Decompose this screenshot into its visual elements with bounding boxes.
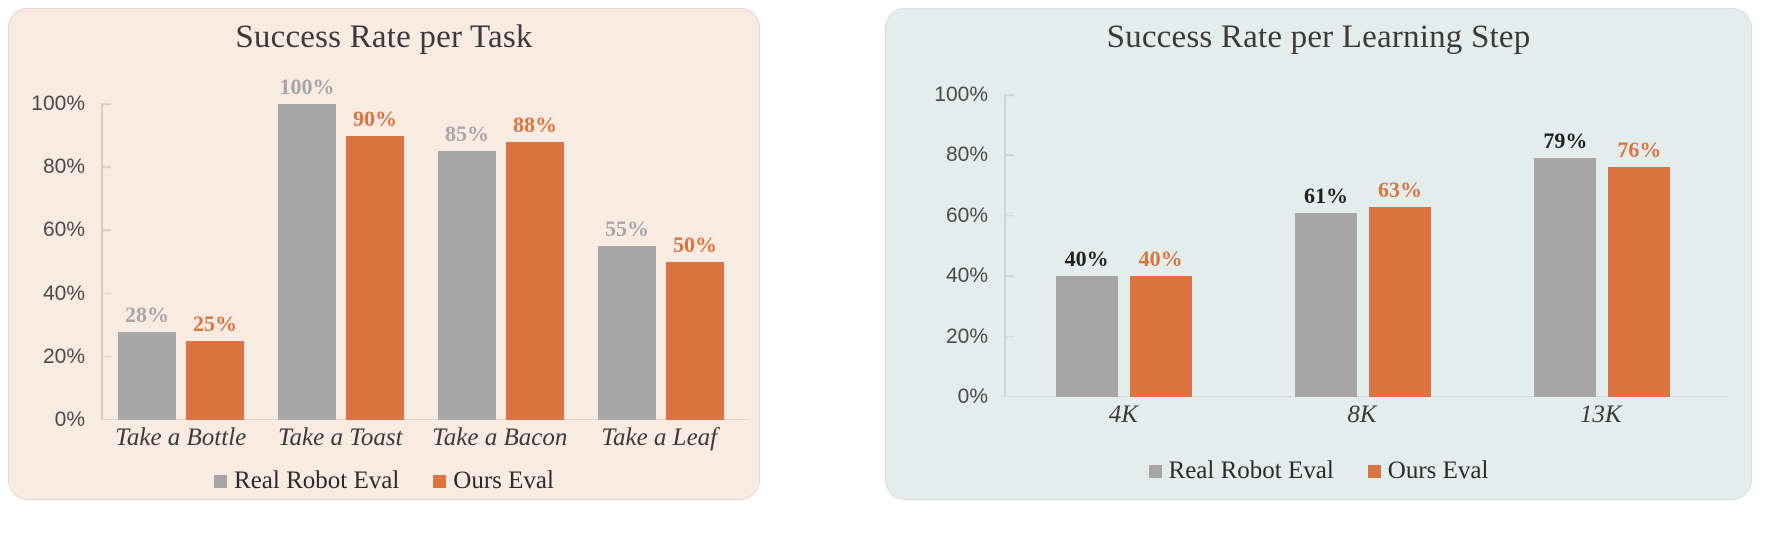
- bar-fill: [1056, 276, 1118, 397]
- bar-ours-eval[interactable]: 76%: [1608, 167, 1670, 397]
- bar-value-label: 88%: [513, 112, 557, 142]
- bar-groups-left: 28%25%100%90%85%88%55%50%: [101, 104, 741, 420]
- bar-fill: [1608, 167, 1670, 397]
- bar-real-robot-eval[interactable]: 55%: [598, 246, 656, 420]
- legend-label: Real Robot Eval: [234, 467, 399, 495]
- bar-fill: [278, 104, 336, 420]
- figure-container: Success Rate per Task 0%20%40%60%80%100%…: [0, 0, 1774, 550]
- bar-fill: [506, 142, 564, 420]
- bar-fill: [438, 151, 496, 420]
- x-axis-category-label: Take a Leaf: [580, 424, 740, 452]
- bar-fill: [1130, 276, 1192, 397]
- bar-value-label: 25%: [193, 311, 237, 341]
- bar-value-label: 63%: [1378, 177, 1422, 207]
- y-axis-tick-label: 0%: [958, 385, 1004, 409]
- y-axis-tick-label: 60%: [43, 218, 101, 242]
- legend-item[interactable]: Real Robot Eval: [214, 467, 399, 495]
- legend-item[interactable]: Ours Eval: [433, 467, 554, 495]
- bar-fill: [346, 136, 404, 420]
- y-axis-tick-label: 20%: [43, 345, 101, 369]
- bar-fill: [1369, 207, 1431, 397]
- bar-fill: [666, 262, 724, 420]
- plot-area-left: 0%20%40%60%80%100% 28%25%100%90%85%88%55…: [101, 104, 741, 420]
- bar-value-label: 100%: [280, 74, 335, 104]
- legend-item[interactable]: Real Robot Eval: [1149, 457, 1334, 485]
- legend-item[interactable]: Ours Eval: [1368, 457, 1489, 485]
- bar-fill: [118, 332, 176, 420]
- bar-group: 40%40%: [1004, 95, 1243, 397]
- bar-group: 55%50%: [581, 104, 741, 420]
- bar-fill: [1295, 213, 1357, 397]
- legend-label: Real Robot Eval: [1169, 457, 1334, 485]
- bar-value-label: 76%: [1617, 137, 1661, 167]
- bar-ours-eval[interactable]: 50%: [666, 262, 724, 420]
- y-axis-tick-label: 20%: [946, 325, 1004, 349]
- bar-group: 100%90%: [261, 104, 421, 420]
- bar-value-label: 40%: [1065, 246, 1109, 276]
- bar-group: 85%88%: [421, 104, 581, 420]
- bar-real-robot-eval[interactable]: 61%: [1295, 213, 1357, 397]
- legend-swatch-icon: [1368, 465, 1381, 478]
- bar-group: 79%76%: [1483, 95, 1722, 397]
- bar-value-label: 90%: [353, 106, 397, 136]
- x-axis-labels-right: 4K8K13K: [1004, 401, 1720, 429]
- x-axis-category-label: 13K: [1481, 401, 1720, 429]
- bar-real-robot-eval[interactable]: 79%: [1534, 158, 1596, 397]
- bar-value-label: 55%: [605, 216, 649, 246]
- bar-value-label: 28%: [125, 302, 169, 332]
- chart-panel-success-rate-per-learning-step: Success Rate per Learning Step 0%20%40%6…: [885, 8, 1752, 500]
- legend-swatch-icon: [433, 475, 446, 488]
- bar-ours-eval[interactable]: 90%: [346, 136, 404, 420]
- y-axis-tick-label: 40%: [946, 264, 1004, 288]
- chart-title-right: Success Rate per Learning Step: [886, 19, 1751, 56]
- chart-panel-success-rate-per-task: Success Rate per Task 0%20%40%60%80%100%…: [8, 8, 760, 500]
- bar-real-robot-eval[interactable]: 85%: [438, 151, 496, 420]
- x-axis-category-label: 4K: [1004, 401, 1243, 429]
- legend-label: Ours Eval: [1388, 457, 1489, 485]
- x-axis-category-label: Take a Bottle: [101, 424, 261, 452]
- x-axis-category-label: Take a Bacon: [420, 424, 580, 452]
- chart-title-left: Success Rate per Task: [9, 19, 759, 56]
- bar-fill: [186, 341, 244, 420]
- bar-value-label: 61%: [1304, 183, 1348, 213]
- y-axis-tick-label: 40%: [43, 282, 101, 306]
- y-axis-tick-label: 100%: [31, 92, 101, 116]
- legend-label: Ours Eval: [453, 467, 554, 495]
- bar-value-label: 40%: [1139, 246, 1183, 276]
- bar-groups-right: 40%40%61%63%79%76%: [1004, 95, 1722, 397]
- bar-real-robot-eval[interactable]: 40%: [1056, 276, 1118, 397]
- bar-ours-eval[interactable]: 40%: [1130, 276, 1192, 397]
- bar-fill: [598, 246, 656, 420]
- y-axis-tick-label: 80%: [43, 155, 101, 179]
- plot-area-right: 0%20%40%60%80%100% 40%40%61%63%79%76%: [1004, 95, 1722, 397]
- y-axis-tick-label: 0%: [55, 408, 101, 432]
- x-axis-category-label: 8K: [1243, 401, 1482, 429]
- bar-fill: [1534, 158, 1596, 397]
- legend-left: Real Robot EvalOurs Eval: [9, 467, 759, 495]
- x-axis-labels-left: Take a BottleTake a ToastTake a BaconTak…: [101, 424, 739, 452]
- bar-group: 61%63%: [1243, 95, 1482, 397]
- y-axis-tick-label: 60%: [946, 204, 1004, 228]
- bar-real-robot-eval[interactable]: 100%: [278, 104, 336, 420]
- bar-value-label: 79%: [1543, 128, 1587, 158]
- bar-real-robot-eval[interactable]: 28%: [118, 332, 176, 420]
- bar-ours-eval[interactable]: 25%: [186, 341, 244, 420]
- x-axis-category-label: Take a Toast: [261, 424, 421, 452]
- bar-group: 28%25%: [101, 104, 261, 420]
- bar-value-label: 50%: [673, 232, 717, 262]
- legend-swatch-icon: [1149, 465, 1162, 478]
- legend-swatch-icon: [214, 475, 227, 488]
- legend-right: Real Robot EvalOurs Eval: [886, 457, 1751, 485]
- bar-value-label: 85%: [445, 121, 489, 151]
- bar-ours-eval[interactable]: 63%: [1369, 207, 1431, 397]
- y-axis-tick-label: 100%: [934, 83, 1004, 107]
- bar-ours-eval[interactable]: 88%: [506, 142, 564, 420]
- y-axis-tick-label: 80%: [946, 143, 1004, 167]
